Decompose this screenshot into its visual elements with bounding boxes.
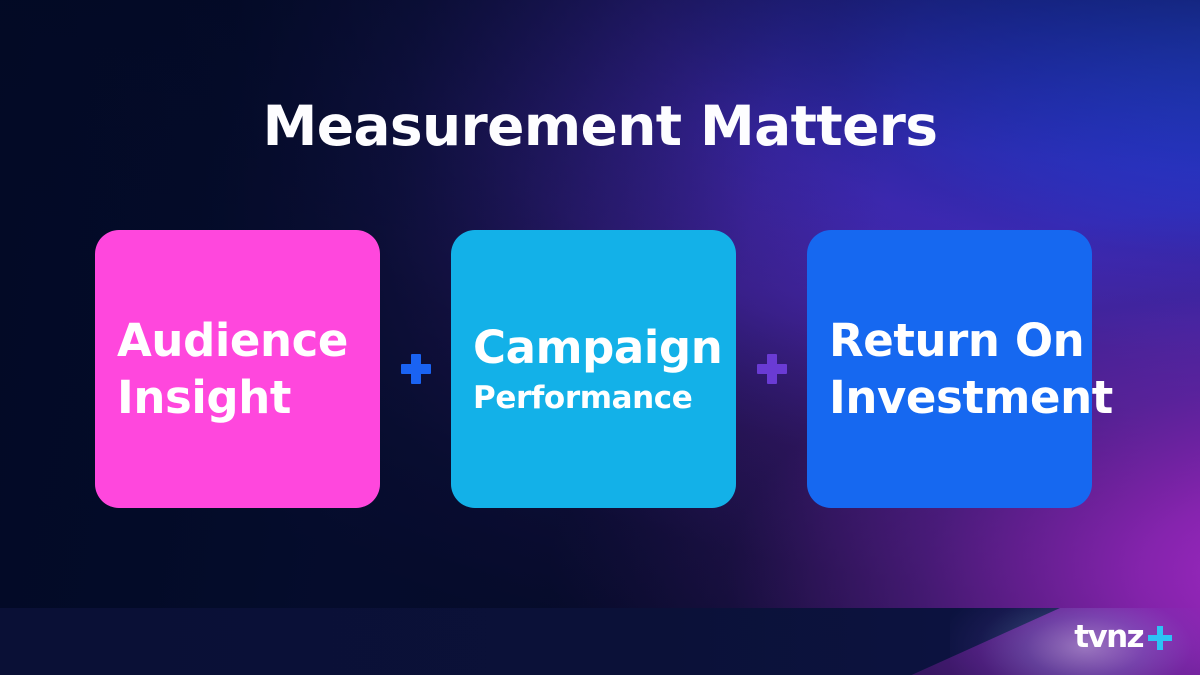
plus-icon bbox=[757, 354, 787, 384]
plus-icon bbox=[401, 354, 431, 384]
tvnz-wordmark: tvnz bbox=[1074, 622, 1143, 653]
card-campaign-performance[interactable]: Campaign Performance bbox=[451, 230, 736, 508]
tvnz-plus-icon bbox=[1148, 626, 1172, 650]
presentation-slide: Measurement Matters Audience Insight Cam… bbox=[0, 0, 1200, 675]
card-line-secondary: Insight bbox=[117, 369, 360, 426]
measurement-pillars-row: Audience Insight Campaign Performance Re… bbox=[95, 230, 1106, 508]
card-line-primary: Campaign bbox=[473, 319, 716, 376]
card-line-secondary: Performance bbox=[473, 376, 716, 420]
card-audience-insight[interactable]: Audience Insight bbox=[95, 230, 380, 508]
card-line-primary: Return On bbox=[829, 312, 1072, 369]
footer-navy-band bbox=[0, 608, 1060, 675]
plus-separator-2 bbox=[736, 230, 807, 508]
plus-separator-1 bbox=[380, 230, 451, 508]
card-return-on-investment[interactable]: Return On Investment bbox=[807, 230, 1092, 508]
page-title: Measurement Matters bbox=[0, 93, 1200, 159]
card-line-primary: Audience bbox=[117, 312, 360, 369]
tvnz-plus-logo: tvnz bbox=[1074, 620, 1172, 654]
card-line-secondary: Investment bbox=[829, 369, 1072, 426]
